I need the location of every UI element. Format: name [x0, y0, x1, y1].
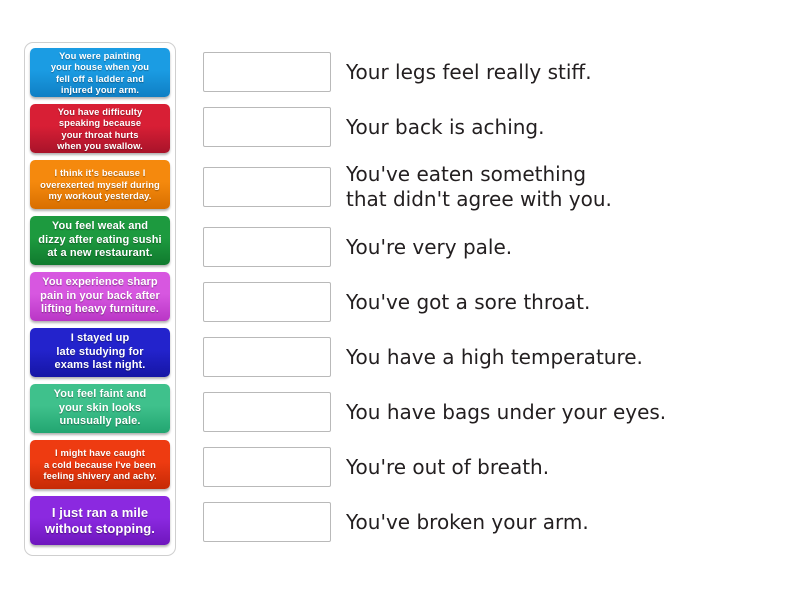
drop-zone[interactable]: [203, 337, 331, 377]
match-up-activity: You were painting your house when you fe…: [0, 0, 800, 600]
answer-row: You're out of breath.: [203, 447, 783, 487]
tile-label: I stayed up late studying for exams last…: [34, 332, 166, 373]
prompt-text: You've eaten something that didn't agree…: [346, 162, 783, 212]
draggable-tile[interactable]: I just ran a mile without stopping.: [30, 496, 170, 545]
draggable-tile[interactable]: You have difficulty speaking because you…: [30, 104, 170, 153]
prompt-text: Your back is aching.: [346, 116, 783, 139]
prompt-text: Your legs feel really stiff.: [346, 61, 783, 84]
prompt-text: You're out of breath.: [346, 456, 783, 479]
prompt-text: You're very pale.: [346, 236, 783, 259]
answer-row: Your legs feel really stiff.: [203, 52, 783, 92]
prompt-text: You have bags under your eyes.: [346, 401, 783, 424]
draggable-tile[interactable]: I stayed up late studying for exams last…: [30, 328, 170, 377]
draggable-tile[interactable]: You feel faint and your skin looks unusu…: [30, 384, 170, 433]
tile-label: You have difficulty speaking because you…: [34, 106, 166, 152]
drop-zone[interactable]: [203, 52, 331, 92]
prompt-text: You've got a sore throat.: [346, 291, 783, 314]
draggable-tile[interactable]: You were painting your house when you fe…: [30, 48, 170, 97]
drop-zone[interactable]: [203, 447, 331, 487]
tile-label: You feel faint and your skin looks unusu…: [34, 388, 166, 429]
draggable-tile[interactable]: You experience sharp pain in your back a…: [30, 272, 170, 321]
tile-label: I just ran a mile without stopping.: [34, 505, 166, 537]
tile-label: You experience sharp pain in your back a…: [34, 276, 166, 317]
tile-label: I might have caught a cold because I've …: [34, 447, 166, 481]
drop-zone[interactable]: [203, 282, 331, 322]
answer-row: You have a high temperature.: [203, 337, 783, 377]
drop-zone[interactable]: [203, 167, 331, 207]
drop-zone[interactable]: [203, 227, 331, 267]
draggable-tile[interactable]: You feel weak and dizzy after eating sus…: [30, 216, 170, 265]
drop-zone[interactable]: [203, 502, 331, 542]
answer-row: You've got a sore throat.: [203, 282, 783, 322]
tile-label: I think it's because I overexerted mysel…: [34, 167, 166, 201]
tile-label: You feel weak and dizzy after eating sus…: [34, 220, 166, 261]
answer-row: You've broken your arm.: [203, 502, 783, 542]
prompt-text: You have a high temperature.: [346, 346, 783, 369]
draggable-tile[interactable]: I might have caught a cold because I've …: [30, 440, 170, 489]
drop-zone[interactable]: [203, 392, 331, 432]
answer-rows: Your legs feel really stiff. Your back i…: [203, 52, 783, 542]
answer-row: Your back is aching.: [203, 107, 783, 147]
drop-zone[interactable]: [203, 107, 331, 147]
prompt-text: You've broken your arm.: [346, 511, 783, 534]
draggable-tile[interactable]: I think it's because I overexerted mysel…: [30, 160, 170, 209]
answer-row: You're very pale.: [203, 227, 783, 267]
draggable-tiles-panel: You were painting your house when you fe…: [24, 42, 176, 556]
tile-label: You were painting your house when you fe…: [34, 50, 166, 96]
answer-row: You have bags under your eyes.: [203, 392, 783, 432]
answer-row: You've eaten something that didn't agree…: [203, 162, 783, 212]
